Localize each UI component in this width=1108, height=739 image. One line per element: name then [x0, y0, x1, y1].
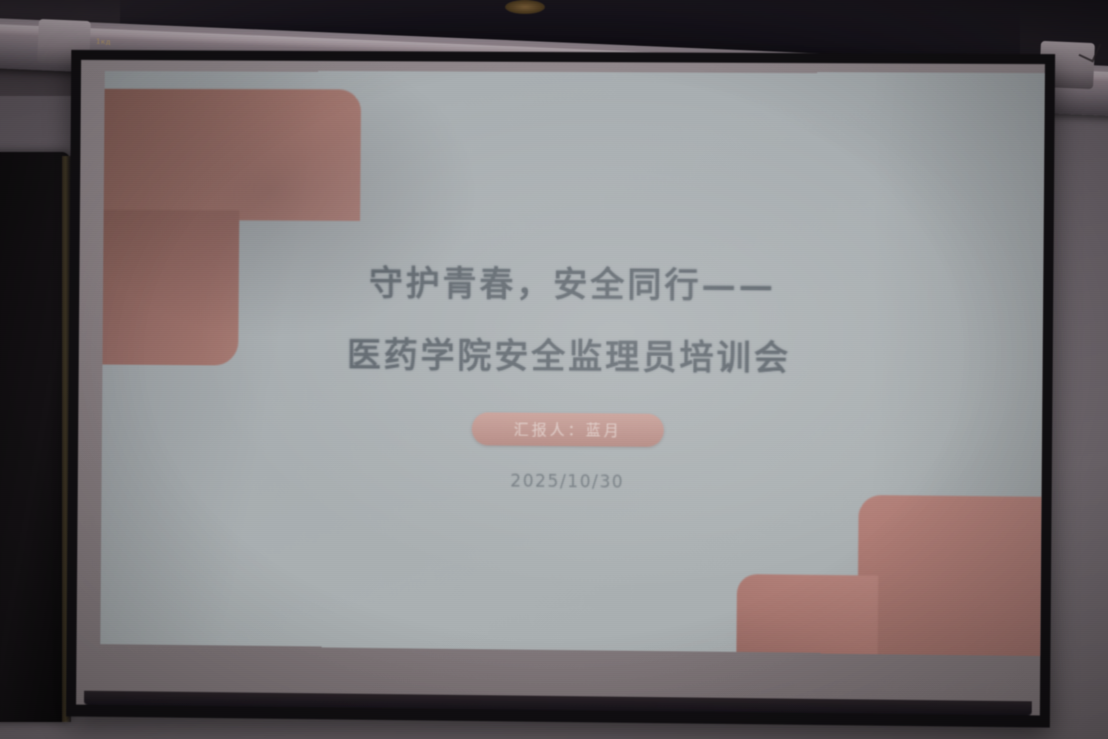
projector-screen: 守护青春，安全同行—— 医药学院安全监理员培训会 汇报人：蓝月 2025/10/… — [66, 50, 1055, 728]
roller-label: 1кд — [96, 38, 111, 47]
screen-surface: 守护青春，安全同行—— 医药学院安全监理员培训会 汇报人：蓝月 2025/10/… — [76, 60, 1045, 716]
presenter-badge: 汇报人：蓝月 — [472, 413, 664, 448]
screenshot-root: 1кд 守护青春，安全同行—— 医药学院安全监理员培训会 汇报人：蓝月 2025… — [0, 0, 1108, 739]
slide-title-line-2: 医药学院安全监理员培训会 — [347, 338, 791, 377]
slide-date: 2025/10/30 — [510, 472, 624, 493]
slide-content: 守护青春，安全同行—— 医药学院安全监理员培训会 汇报人：蓝月 2025/10/… — [100, 71, 1045, 656]
screen-bottom-weight-bar — [84, 691, 1032, 716]
blackboard — [0, 152, 70, 722]
ceiling-fixture — [505, 0, 545, 14]
slide-title-line-1: 守护青春，安全同行—— — [369, 267, 776, 305]
projected-slide: 守护青春，安全同行—— 医药学院安全监理员培训会 汇报人：蓝月 2025/10/… — [100, 71, 1045, 656]
presenter-label: 汇报人：蓝月 — [514, 419, 622, 441]
